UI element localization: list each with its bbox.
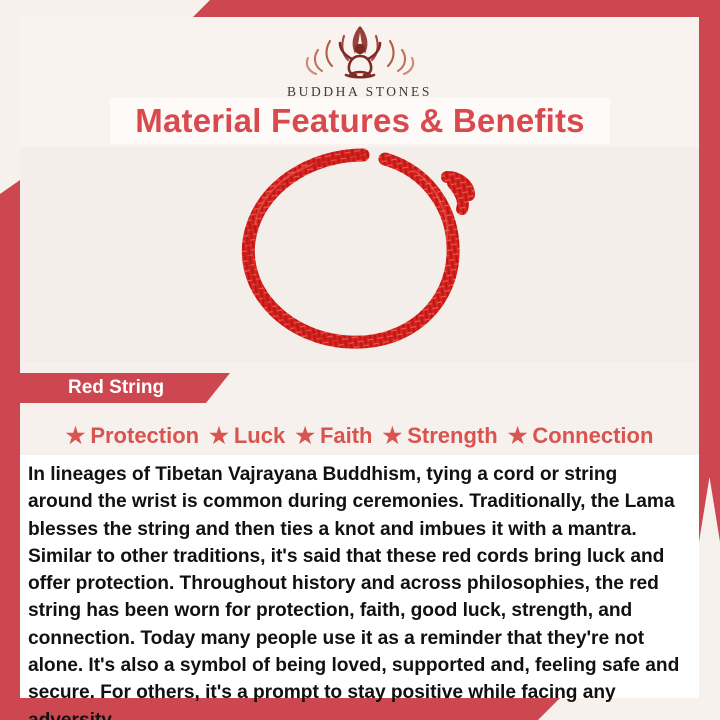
- description-text: In lineages of Tibetan Vajrayana Buddhis…: [28, 461, 685, 720]
- benefit-label: Protection: [90, 423, 199, 449]
- lotus-meditation-icon: [294, 23, 426, 81]
- star-icon: ★: [295, 425, 315, 447]
- product-label: Red String: [20, 377, 164, 399]
- benefit-label: Strength: [407, 423, 497, 449]
- benefit-item: ★ Connection: [508, 423, 654, 449]
- product-image: [20, 147, 699, 362]
- star-icon: ★: [508, 425, 528, 447]
- benefit-item: ★ Strength: [383, 423, 498, 449]
- frame-right-accent-bar: [699, 0, 720, 542]
- infographic-page: BUDDHA STONES Material Features & Benefi…: [0, 0, 720, 720]
- brand-logo: BUDDHA STONES: [20, 17, 699, 100]
- star-icon: ★: [66, 425, 86, 447]
- benefit-item: ★ Faith: [295, 423, 372, 449]
- benefit-label: Connection: [532, 423, 653, 449]
- star-icon: ★: [209, 425, 229, 447]
- frame-top-accent-bar: [193, 0, 720, 17]
- benefits-list: ★ Protection ★ Luck ★ Faith ★ Strength ★…: [20, 418, 699, 454]
- benefit-item: ★ Protection: [66, 423, 200, 449]
- benefit-label: Luck: [234, 423, 285, 449]
- page-title: Material Features & Benefits: [135, 102, 584, 140]
- benefit-label: Faith: [320, 423, 373, 449]
- benefit-item: ★ Luck: [209, 423, 285, 449]
- frame-left-accent-bar: [0, 180, 20, 720]
- title-banner: Material Features & Benefits: [110, 98, 610, 144]
- star-icon: ★: [383, 425, 403, 447]
- product-label-ribbon: Red String: [20, 373, 230, 403]
- description-panel: In lineages of Tibetan Vajrayana Buddhis…: [20, 455, 699, 698]
